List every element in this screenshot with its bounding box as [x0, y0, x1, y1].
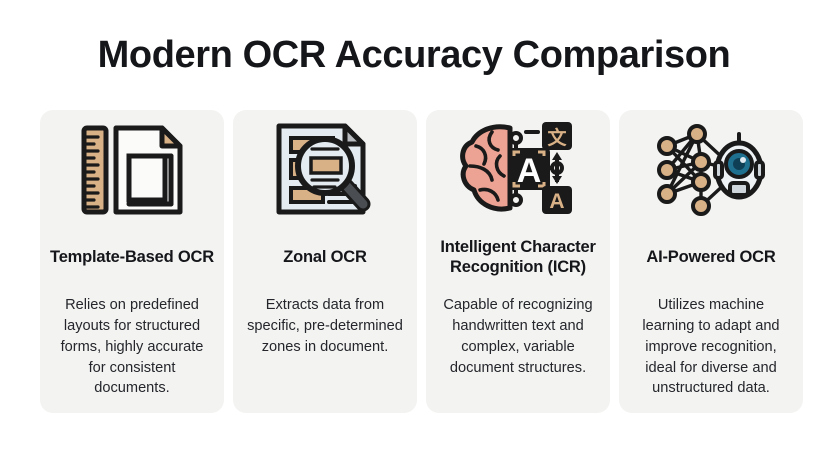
neural-network-robot-icon [619, 110, 803, 230]
ocr-comparison-card-grid: Template-Based OCR Relies on predefined … [40, 110, 788, 413]
ruler-document-icon [40, 110, 224, 230]
card-zonal-ocr[interactable]: Zonal OCR Extracts data from specific, p… [233, 110, 417, 413]
document-magnifier-zones-icon [233, 110, 417, 230]
card-ai-powered-ocr[interactable]: AI-Powered OCR Utilizes machine learning… [619, 110, 803, 413]
svg-text:A: A [517, 152, 542, 190]
card-intelligent-character-recognition[interactable]: A 文 A [426, 110, 610, 413]
card-description: Utilizes machine learning to adapt and i… [632, 295, 790, 399]
card-title: Intelligent Character Recognition (ICR) [418, 230, 618, 284]
svg-text:文: 文 [547, 126, 567, 149]
card-title: Zonal OCR [225, 230, 425, 284]
card-description: Relies on predefined layouts for structu… [53, 295, 211, 399]
card-description: Extracts data from specific, pre-determi… [246, 295, 404, 358]
card-title: AI-Powered OCR [611, 230, 811, 284]
brain-character-recognition-icon: A 文 A [426, 110, 610, 230]
card-title: Template-Based OCR [32, 230, 232, 284]
page-title: Modern OCR Accuracy Comparison [0, 34, 828, 77]
card-description: Capable of recognizing handwritten text … [439, 295, 597, 378]
card-template-based-ocr[interactable]: Template-Based OCR Relies on predefined … [40, 110, 224, 413]
svg-text:A: A [549, 190, 564, 213]
